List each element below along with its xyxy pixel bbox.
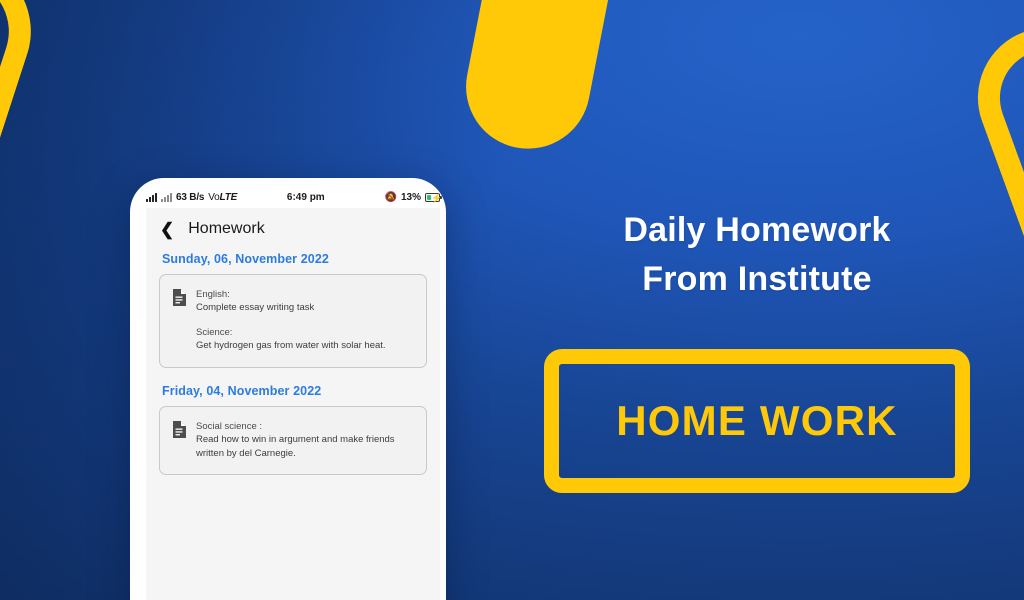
entry-spacer [196,315,414,326]
bell-mute-icon: 🔕 [385,192,397,203]
homework-card[interactable]: English: Complete essay writing task Sci… [159,274,427,368]
homework-subject: Science: [196,326,414,339]
date-heading: Sunday, 06, November 2022 [162,252,427,266]
chevron-left-icon[interactable]: ❮ [160,221,174,238]
homework-subject: English: [196,288,414,301]
homework-subject: Social science : [196,420,414,433]
cta-label: HOME WORK [616,397,897,445]
status-clock: 6:49 pm [287,192,325,203]
date-heading: Friday, 04, November 2022 [162,384,427,398]
status-bar: 63 B/s VoLTE 6:49 pm 🔕 13% ⚡ [146,186,440,208]
page-title: Homework [188,220,264,238]
signal-bars-icon [146,193,157,202]
battery-charging-icon: ⚡ [425,193,440,202]
homework-list: Sunday, 06, November 2022 English: Compl… [146,252,440,475]
phone-screen: ❮ Homework Sunday, 06, November 2022 E [146,208,440,600]
promo-panel: Daily Homework From Institute HOME WORK [490,0,1024,600]
signal-bars-secondary-icon [161,193,172,202]
app-bar: ❮ Homework [146,208,440,246]
homework-cta-button[interactable]: HOME WORK [544,349,970,493]
homework-detail: Read how to win in argument and make fri… [196,433,414,460]
headline-line-1: Daily Homework [623,211,890,249]
homework-detail: Get hydrogen gas from water with solar h… [196,339,414,352]
network-speed-label: 63 B/s [176,192,204,203]
network-type-label: VoLTE [208,192,237,203]
homework-detail: Complete essay writing task [196,301,414,314]
headline-line-2: From Institute [623,255,890,304]
document-icon [172,289,186,353]
document-icon [172,421,186,460]
homework-card[interactable]: Social science : Read how to win in argu… [159,406,427,475]
promo-headline: Daily Homework From Institute [623,206,890,305]
battery-percent-label: 13% [401,192,421,203]
phone-mockup: 63 B/s VoLTE 6:49 pm 🔕 13% ⚡ ❮ Homework … [130,178,446,600]
